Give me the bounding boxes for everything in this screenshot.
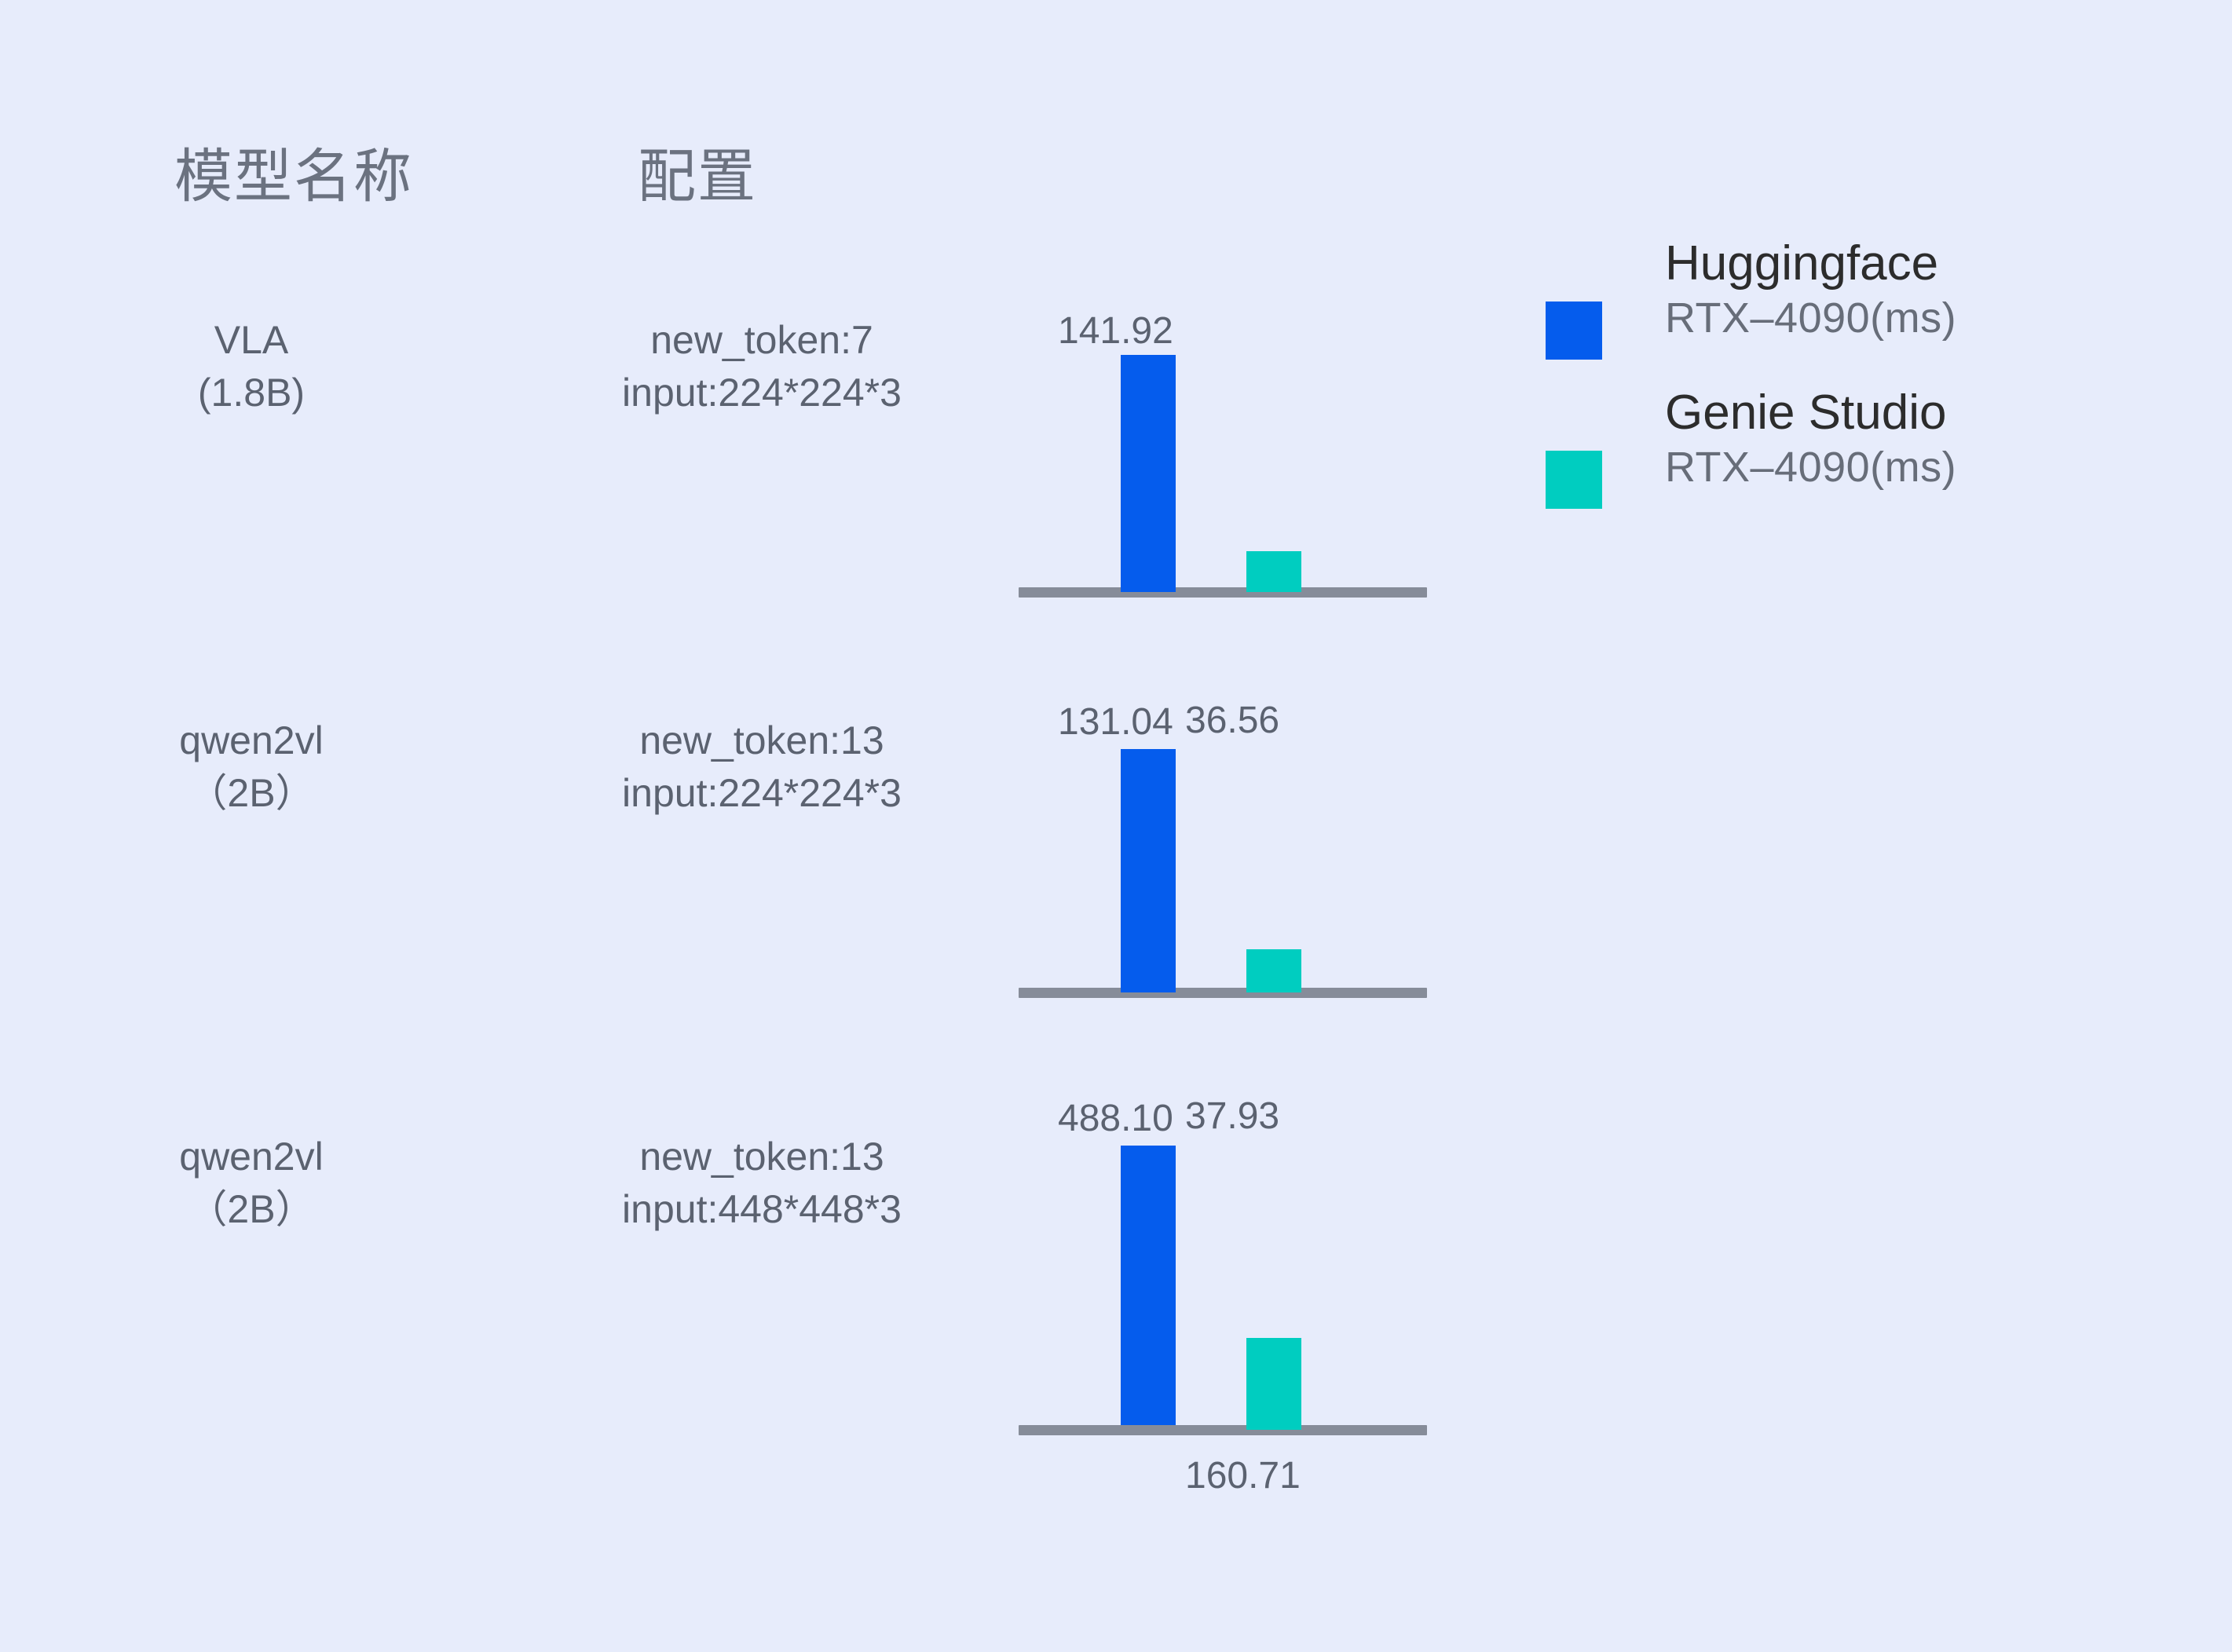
row-model-label: qwen2vl （2B） [102,715,401,820]
legend-series-name: Huggingface [1665,236,1956,291]
column-header-model-name: 模型名称 [174,130,413,214]
config-new-token-line: new_token:13 [471,1131,1052,1183]
bar-genie-studio[interactable] [1246,949,1301,992]
legend-entry-huggingface[interactable]: Huggingface RTX–4090(ms) [1546,236,2095,385]
bar-value-huggingface: 488.10 [1058,1097,1173,1140]
legend-entry-genie-studio[interactable]: Genie Studio RTX–4090(ms) [1546,385,2095,534]
chart-canvas: 模型名称 配置 VLA (1.8B) new_token:7 input:224… [0,0,2232,1652]
row-config-label: new_token:7 input:224*224*3 [471,314,1052,419]
bar-value-huggingface: 131.04 [1058,700,1173,744]
huggingface-swatch-icon [1546,302,1602,360]
legend-text: Huggingface RTX–4090(ms) [1665,236,1956,345]
baseline-axis [1019,587,1427,598]
model-size-line: （2B） [102,1183,401,1236]
legend-text: Genie Studio RTX–4090(ms) [1665,385,1956,495]
config-new-token-line: new_token:13 [471,715,1052,767]
config-new-token-line: new_token:7 [471,314,1052,367]
genie-studio-swatch-icon [1546,451,1602,509]
model-name-line: qwen2vl [102,1131,401,1183]
bar-huggingface[interactable] [1121,1146,1176,1430]
bar-genie-studio[interactable] [1246,551,1301,592]
bar-value-huggingface: 141.92 [1058,309,1173,353]
column-header-config: 配置 [638,130,757,214]
legend-series-name: Genie Studio [1665,385,1956,440]
row-model-label: qwen2vl （2B） [102,1131,401,1236]
config-input-line: input:224*224*3 [471,767,1052,820]
bar-huggingface[interactable] [1121,355,1176,592]
model-name-line: VLA [102,314,401,367]
row-plot: 488.10 160.71 [1019,1131,1427,1468]
row-plot: 141.92 36.56 [1019,314,1427,628]
chart-row: qwen2vl （2B） new_token:13 input:448*448*… [0,1131,2232,1468]
row-plot: 131.04 37.93 [1019,715,1427,1029]
config-input-line: input:448*448*3 [471,1183,1052,1236]
row-config-label: new_token:13 input:448*448*3 [471,1131,1052,1236]
legend-series-sub: RTX–4090(ms) [1665,291,1956,345]
legend-series-sub: RTX–4090(ms) [1665,440,1956,495]
baseline-axis [1019,988,1427,998]
model-size-line: （2B） [102,767,401,820]
chart-row: qwen2vl （2B） new_token:13 input:224*224*… [0,715,2232,1029]
row-model-label: VLA (1.8B) [102,314,401,419]
config-input-line: input:224*224*3 [471,367,1052,419]
bar-value-genie-studio: 160.71 [1185,1454,1301,1497]
bar-huggingface[interactable] [1121,749,1176,992]
model-name-line: qwen2vl [102,715,401,767]
row-config-label: new_token:13 input:224*224*3 [471,715,1052,820]
model-size-line: (1.8B) [102,367,401,419]
chart-legend: Huggingface RTX–4090(ms) Genie Studio RT… [1546,236,2095,534]
baseline-axis [1019,1425,1427,1435]
bar-genie-studio[interactable] [1246,1338,1301,1430]
